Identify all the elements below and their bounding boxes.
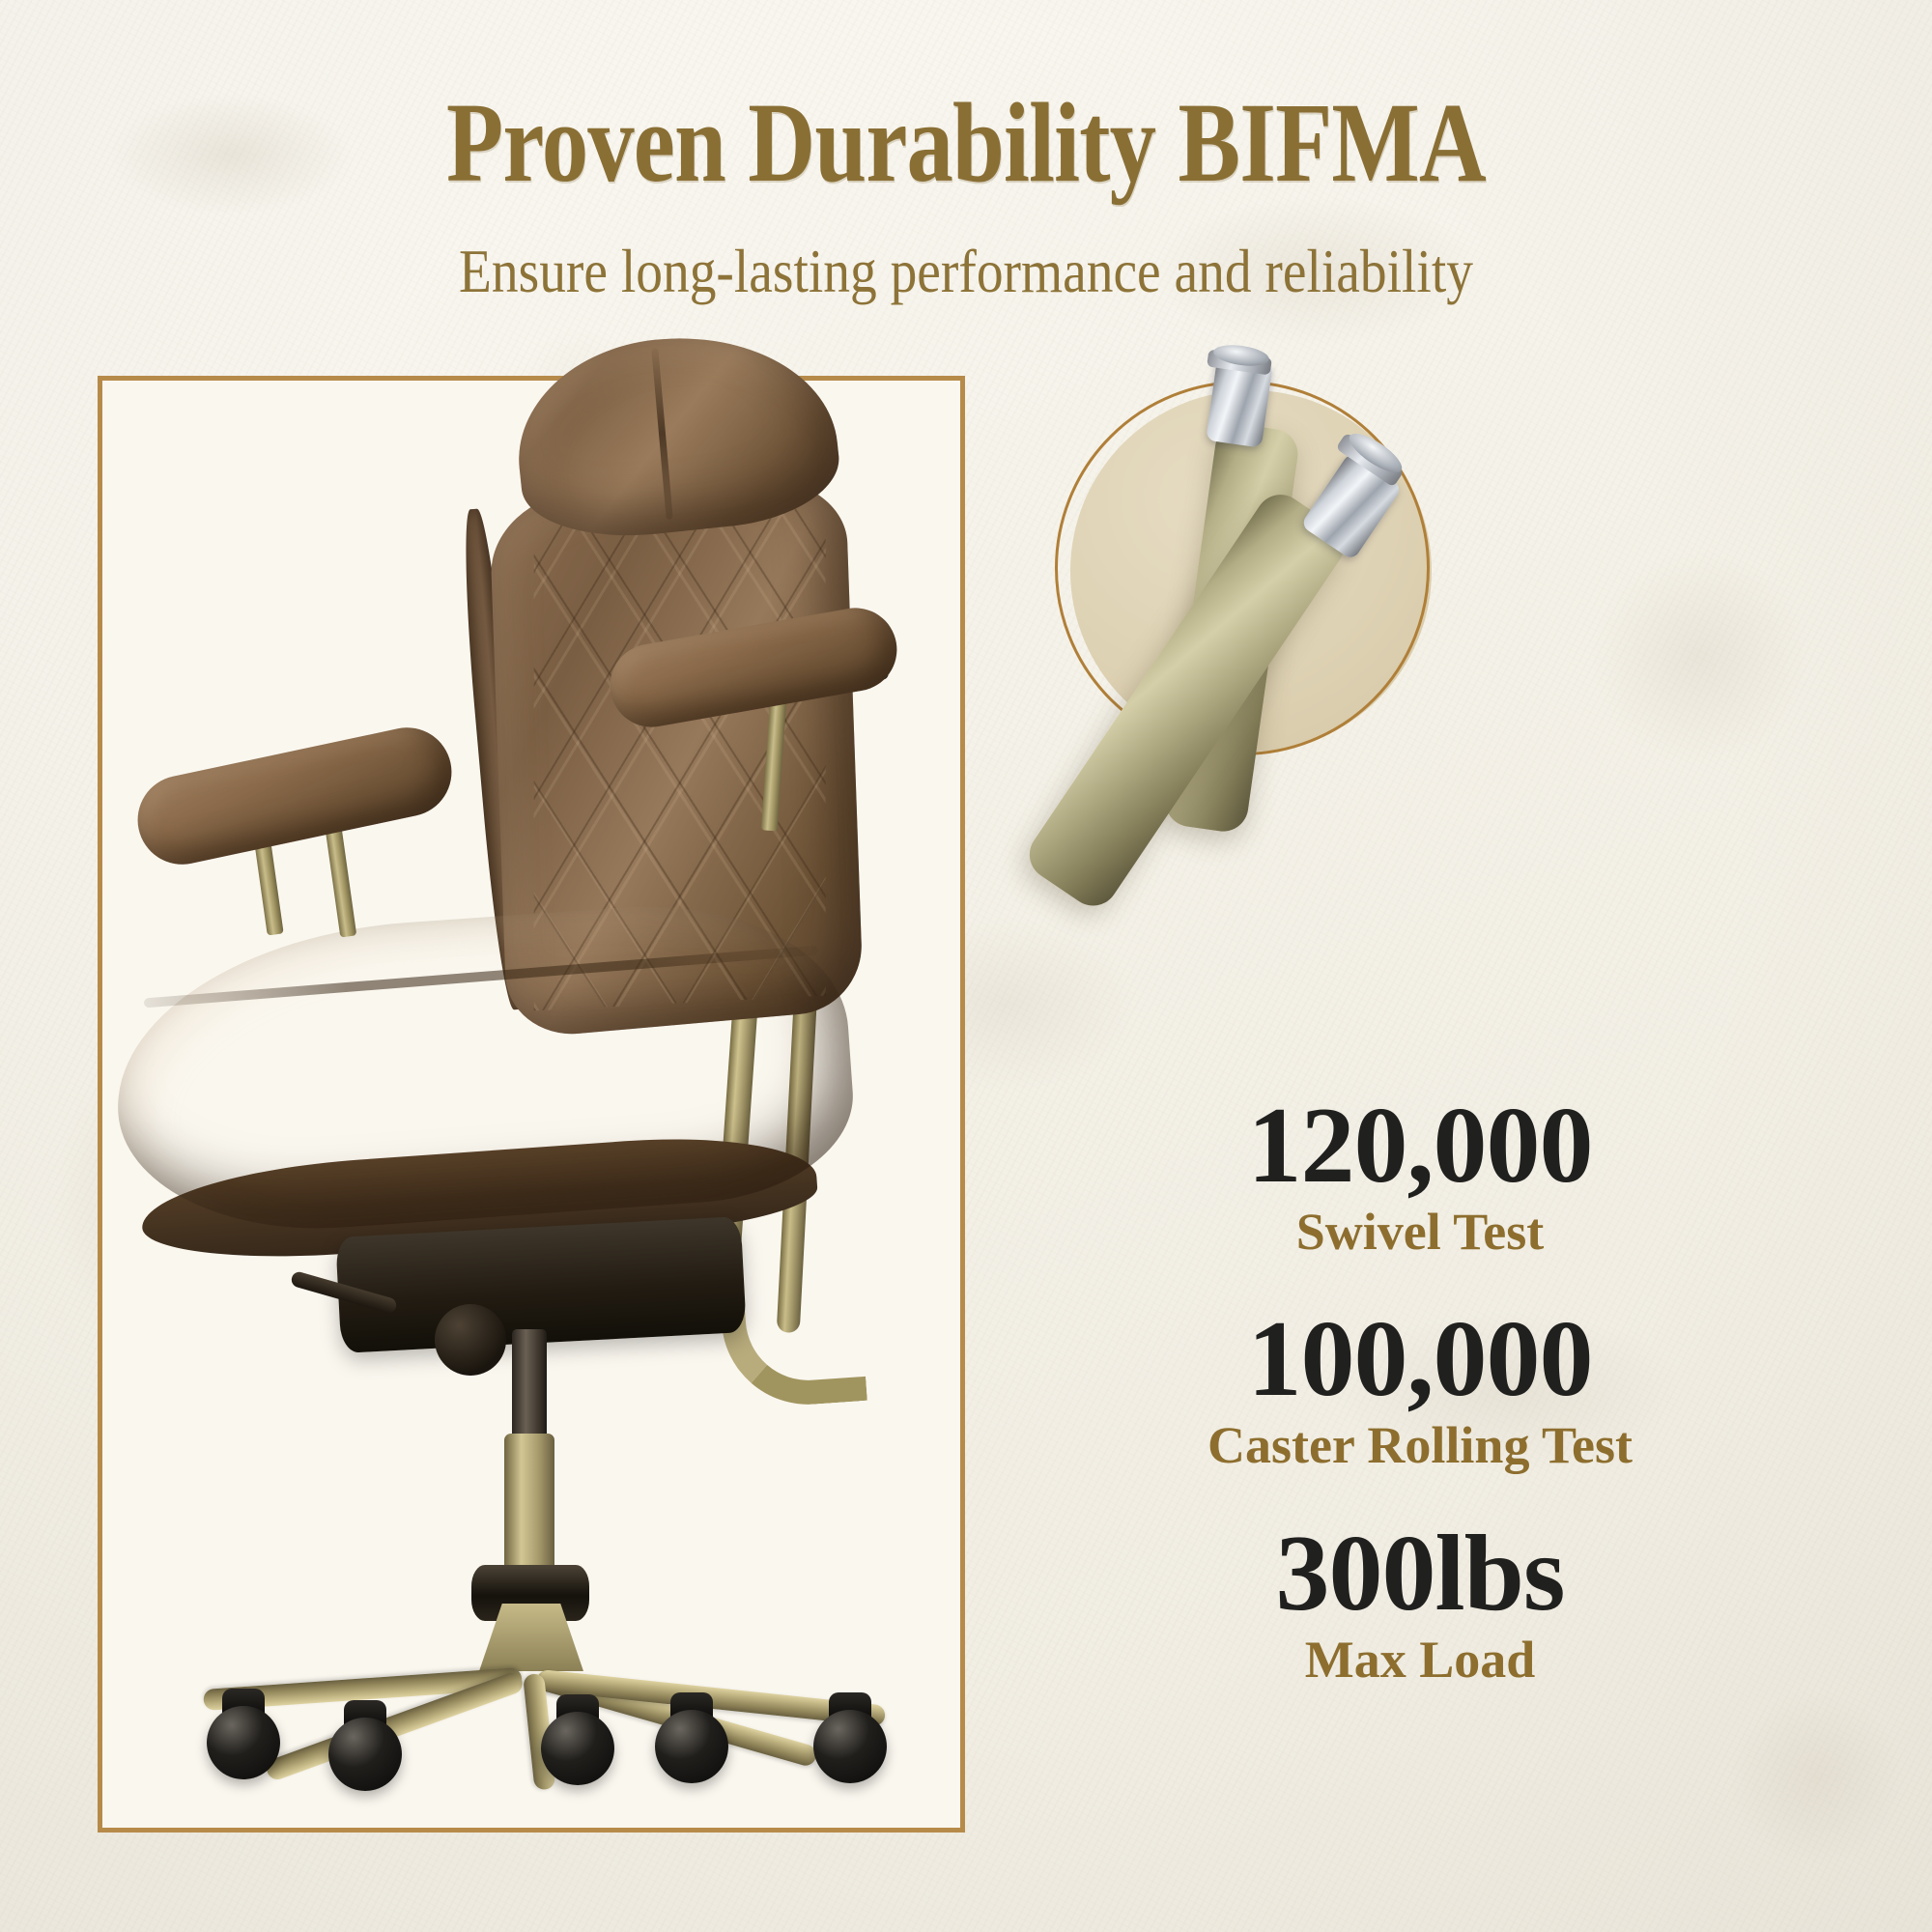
stat-value-max-load: 300lbs <box>1005 1520 1835 1628</box>
office-chair-photo-frame <box>98 376 965 1833</box>
poster-canvas: Proven Durability BIFMA Ensure long-last… <box>0 0 1932 1932</box>
stat-label-max-load: Max Load <box>1005 1632 1835 1689</box>
gold-circle-ring <box>1055 381 1430 755</box>
stat-value-caster-rolling-test: 100,000 <box>1005 1305 1835 1413</box>
stat-max-load: 300lbs Max Load <box>1005 1520 1835 1689</box>
stat-label-caster-rolling-test: Caster Rolling Test <box>1005 1417 1835 1474</box>
stat-caster-rolling-test: 100,000 Caster Rolling Test <box>1005 1305 1835 1474</box>
stat-label-swivel-test: Swivel Test <box>1005 1204 1835 1261</box>
gas-cylinder-upright-cap <box>1207 349 1272 375</box>
stat-swivel-test: 120,000 Swivel Test <box>1005 1092 1835 1261</box>
durability-stats-list: 120,000 Swivel Test 100,000 Caster Rolli… <box>1005 1092 1835 1689</box>
page-title: Proven Durability BIFMA <box>174 85 1758 201</box>
page-subtitle: Ensure long-lasting performance and reli… <box>116 241 1816 302</box>
stat-value-swivel-test: 120,000 <box>1005 1092 1835 1200</box>
gas-cylinder-upright-tip <box>1212 342 1270 369</box>
